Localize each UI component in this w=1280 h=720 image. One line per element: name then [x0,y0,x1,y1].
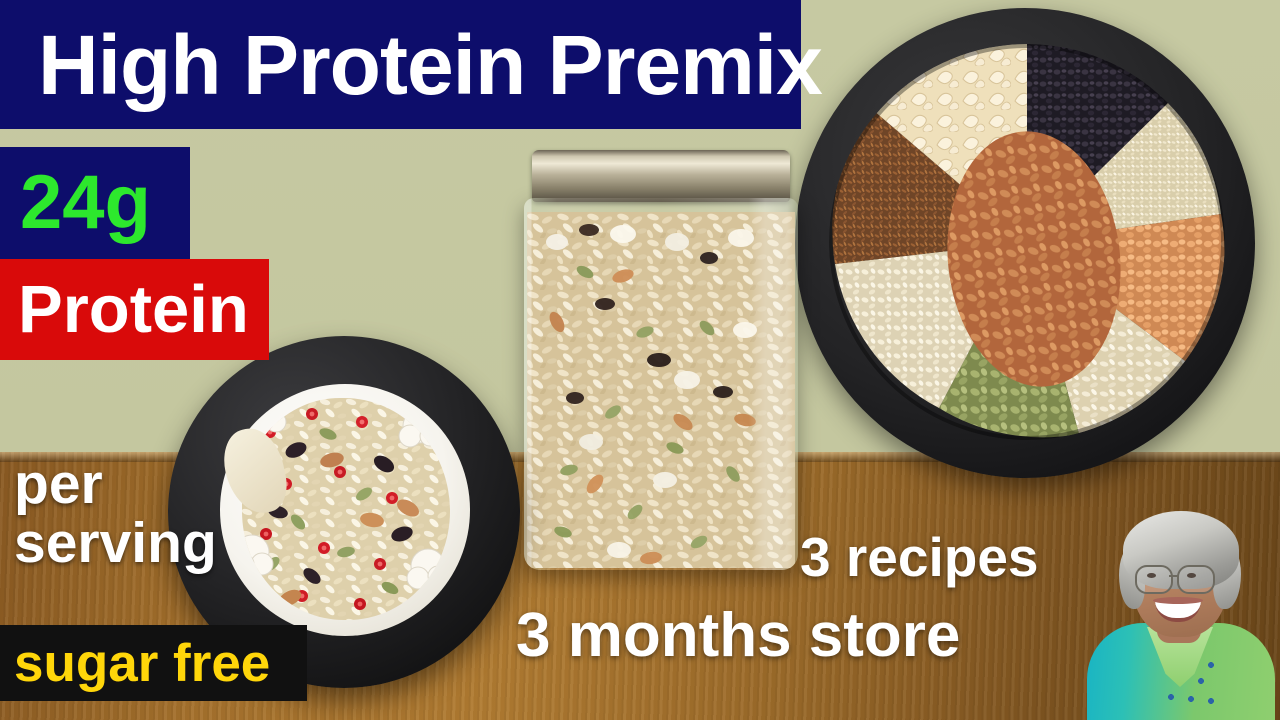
title-text: High Protein Premix [0,23,822,107]
per-serving-line2: serving [14,514,314,573]
title-banner: High Protein Premix [0,0,801,129]
storage-caption: 3 months store [516,605,960,667]
grams-badge: 24g [0,147,190,259]
plate-segments-svg [829,44,1225,440]
sugar-free-text: sugar free [0,637,270,690]
plate-ingredient-pie [829,44,1225,440]
grams-text: 24g [0,165,151,241]
per-serving-line1: per [14,455,314,514]
jar-lid [532,150,790,202]
sugar-free-badge: sugar free [0,625,307,701]
eyeglasses-left-lens-icon [1135,565,1173,594]
per-serving-label: per serving [14,455,314,572]
eyeglasses-bridge [1169,575,1179,577]
jar-glass-body [524,198,798,570]
jar-contents-premix [527,212,795,568]
recipes-caption: 3 recipes [800,530,1039,585]
eyeglasses-right-lens-icon [1177,565,1215,594]
jar-contents-svg [527,212,795,568]
protein-badge: Protein [0,259,269,360]
protein-text: Protein [0,276,249,343]
presenter-portrait [1075,505,1280,720]
presenter-upper-lip [1153,597,1203,604]
premix-jar [520,150,805,575]
thumbnail-canvas: High Protein Premix 24g Protein per serv… [0,0,1280,720]
ingredients-plate [795,8,1255,478]
